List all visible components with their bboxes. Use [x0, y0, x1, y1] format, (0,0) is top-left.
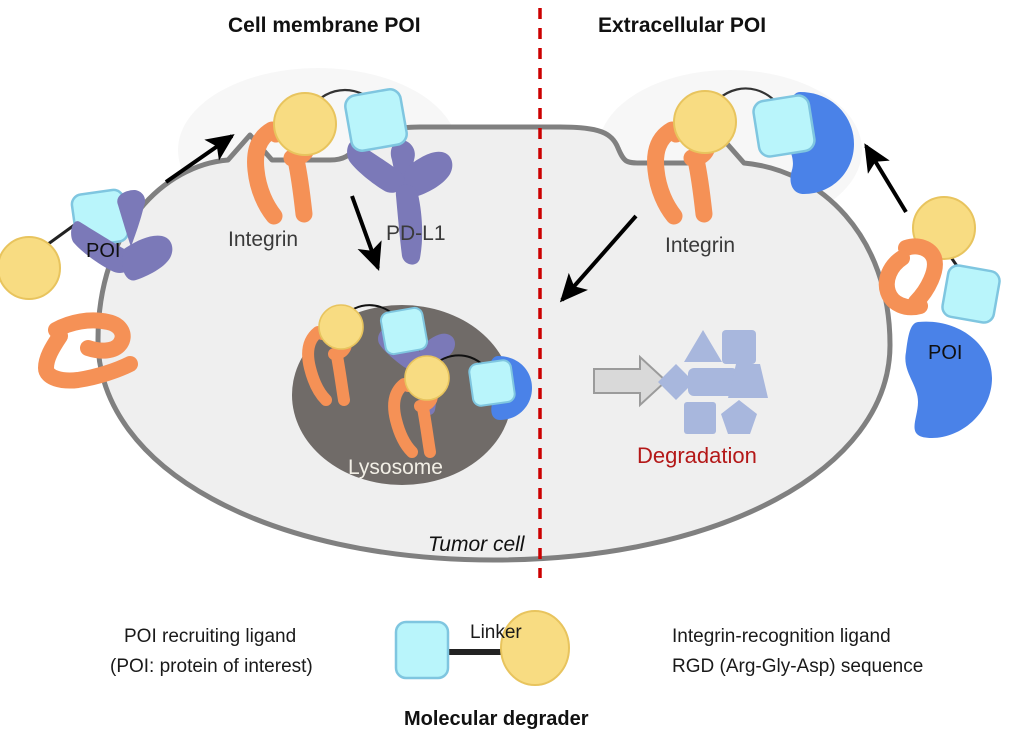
molecular-degrader-figure: POI POI [0, 0, 1012, 751]
legend-left-line2: (POI: protein of interest) [110, 656, 313, 677]
poi-recruiting-ligand-square-right-free [941, 264, 1001, 324]
header-left: Cell membrane POI [228, 14, 421, 37]
fragment-square-small [684, 402, 716, 434]
cell-membrane-outline [98, 127, 890, 560]
poi-left-label: POI [86, 240, 120, 262]
arrow-right-uptake [866, 146, 906, 212]
integrin-right-label: Integrin [665, 234, 735, 257]
legend-title: Molecular degrader [404, 708, 589, 730]
integrin-left-label: Integrin [228, 228, 298, 251]
diagram-canvas: POI POI [0, 0, 1012, 751]
tumor-cell-label: Tumor cell [428, 533, 526, 556]
poi-recruiting-ligand-lyso-b [468, 359, 515, 406]
legend-linker-label: Linker [470, 622, 522, 643]
rgd-ligand-circle [0, 237, 60, 299]
poi-blue-right: POI [905, 322, 992, 438]
poi-recruiting-ligand-square-left [344, 88, 409, 153]
legend-poi-ligand-square [396, 622, 448, 678]
lysosome-label: Lysosome [348, 456, 443, 479]
poi-right-label: POI [928, 342, 962, 364]
rgd-ligand-lyso-a [319, 305, 363, 349]
integrin-right-edge [887, 246, 935, 307]
pdl1-label: PD-L1 [386, 222, 446, 245]
tumor-cell-body [98, 127, 890, 560]
poi-recruiting-ligand-square-right [752, 94, 816, 158]
fragment-square [722, 330, 756, 364]
header-right: Extracellular POI [598, 14, 766, 37]
legend: POI recruiting ligand (POI: protein of i… [110, 611, 923, 730]
degradation-label: Degradation [637, 443, 757, 468]
rgd-ligand-circle-left [274, 93, 336, 155]
legend-left-line1: POI recruiting ligand [124, 626, 296, 647]
poi-recruiting-ligand-lyso-a [380, 307, 429, 356]
rgd-ligand-circle-right [674, 91, 736, 153]
integrin-left-edge [46, 320, 130, 380]
poi-blue-right-body [905, 322, 992, 438]
legend-right-line2: RGD (Arg-Gly-Asp) sequence [672, 656, 923, 677]
rgd-ligand-lyso-b [405, 356, 449, 400]
legend-right-line1: Integrin-recognition ligand [672, 626, 891, 647]
